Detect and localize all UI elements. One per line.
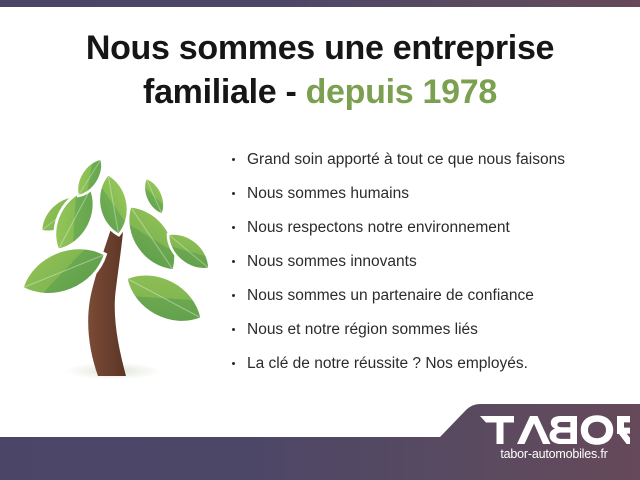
list-item-label: Nous sommes innovants — [247, 253, 417, 270]
bullet-dot-icon — [232, 362, 235, 365]
list-item: Nous sommes innovants — [231, 252, 631, 271]
list-item-label: Nous sommes un partenaire de confiance — [247, 287, 534, 304]
benefits-list: Grand soin apporté à tout ce que nous fa… — [231, 150, 631, 388]
headline-line-2-accent: depuis 1978 — [306, 73, 497, 111]
bullet-dot-icon — [232, 158, 235, 161]
bullet-dot-icon — [232, 328, 235, 331]
footer-bar-shape — [0, 404, 640, 480]
list-item-label: Nous et notre région sommes liés — [247, 321, 478, 338]
tree-illustration — [8, 138, 218, 388]
list-item: Nous sommes humains — [231, 184, 631, 203]
footer-shape — [0, 398, 640, 480]
top-accent-strip — [0, 0, 640, 7]
headline-line-2-plain: familiale - — [143, 73, 297, 111]
list-item-label: La clé de notre réussite ? Nos employés. — [247, 355, 528, 372]
bullet-dot-icon — [232, 226, 235, 229]
bullet-dot-icon — [232, 294, 235, 297]
footer-bar: tabor-automobiles.fr — [0, 398, 640, 480]
list-item: Grand soin apporté à tout ce que nous fa… — [231, 150, 631, 169]
tree-icon — [8, 138, 218, 388]
bullet-dot-icon — [232, 192, 235, 195]
headline-line-1: Nous sommes une entreprise — [86, 29, 554, 67]
list-item: La clé de notre réussite ? Nos employés. — [231, 354, 631, 373]
list-item-label: Nous sommes humains — [247, 185, 409, 202]
list-item: Nous et notre région sommes liés — [231, 320, 631, 339]
list-item: Nous sommes un partenaire de confiance — [231, 286, 631, 305]
list-item-label: Nous respectons notre environnement — [247, 219, 510, 236]
slide-root: Nous sommes une entreprise familiale -de… — [0, 0, 640, 480]
list-item-label: Grand soin apporté à tout ce que nous fa… — [247, 151, 565, 168]
page-title: Nous sommes une entreprise familiale -de… — [0, 26, 640, 114]
list-item: Nous respectons notre environnement — [231, 218, 631, 237]
bullet-dot-icon — [232, 260, 235, 263]
